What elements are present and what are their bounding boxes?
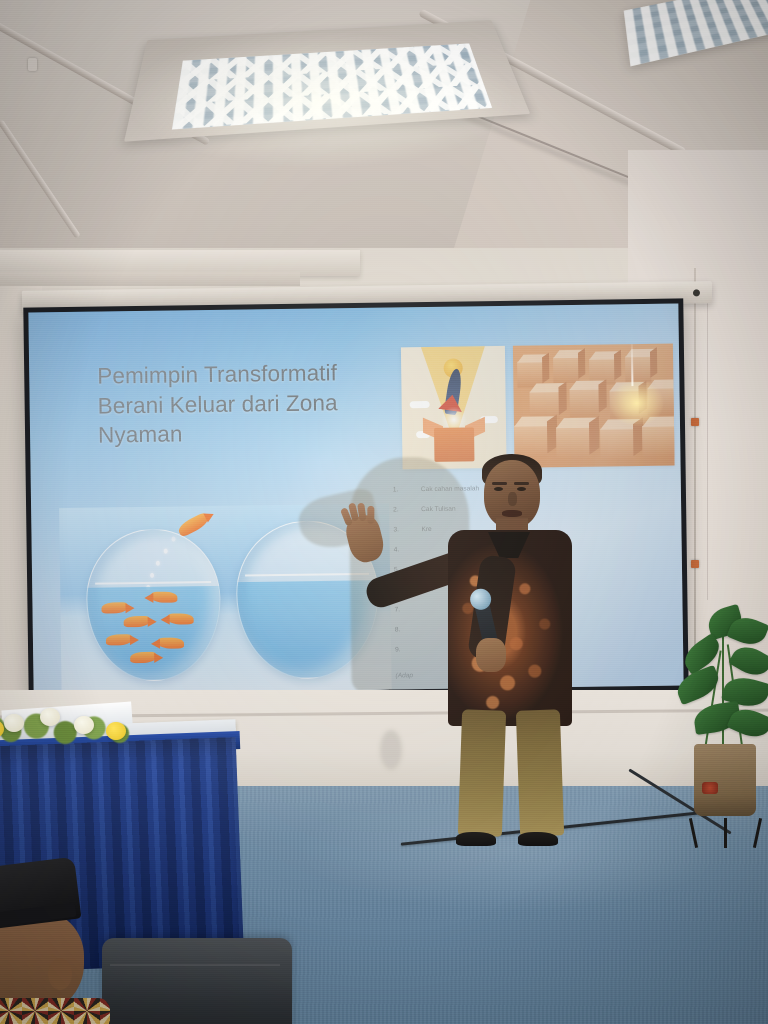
stand-leg — [724, 818, 727, 848]
housing-knob — [693, 289, 700, 296]
goldfish — [124, 616, 150, 627]
yellow-rose — [106, 722, 126, 740]
waterline — [95, 581, 211, 585]
eyebrow — [514, 482, 529, 485]
audience-member — [0, 862, 206, 1024]
finger — [357, 503, 366, 522]
box-cube — [600, 428, 634, 460]
louver-reflectors — [172, 44, 492, 129]
wall-seam — [707, 300, 708, 600]
presenter — [362, 452, 602, 842]
box-cube — [553, 357, 579, 383]
nose — [508, 492, 517, 506]
white-rose — [4, 714, 24, 732]
eye — [517, 487, 526, 491]
presenter-legs — [460, 710, 566, 842]
shoe — [456, 832, 496, 846]
goldfish — [130, 652, 156, 663]
slide-title: Pemimpin Transformatif Berani Keluar dar… — [97, 357, 398, 450]
box-cube — [625, 356, 651, 382]
chair-seam — [110, 964, 280, 966]
cloud-icon — [410, 401, 430, 408]
eye — [494, 487, 503, 491]
goldfish — [168, 613, 194, 624]
light-diffuser — [172, 44, 492, 129]
pipe-clip — [28, 58, 37, 71]
flower-arrangement — [0, 704, 142, 750]
shoe — [518, 832, 558, 846]
goldfish — [101, 602, 127, 613]
slide-title-line-3: Nyaman — [98, 417, 398, 451]
potted-plant — [668, 596, 768, 846]
stand-leg — [753, 818, 762, 848]
trouser-leg — [458, 709, 506, 836]
trouser-leg — [516, 709, 564, 836]
jumping-fish — [176, 512, 210, 538]
ceiling-beam-shadow — [0, 272, 300, 286]
goldfish — [106, 634, 132, 645]
box-cube — [642, 426, 675, 458]
plant-leaf — [728, 640, 768, 682]
mouth — [502, 510, 522, 517]
glow-highlight — [609, 380, 664, 427]
cable-clip — [691, 560, 699, 568]
white-rose — [40, 708, 60, 726]
box-cube — [569, 389, 599, 417]
eyebrow — [492, 482, 507, 485]
pot-indicator-light — [702, 782, 718, 794]
white-rose — [74, 716, 94, 734]
stand-leg — [689, 818, 698, 848]
seminar-photo-scene: Pemimpin Transformatif Berani Keluar dar… — [0, 0, 768, 1024]
audience-batik-shirt — [0, 998, 110, 1024]
goldfish — [158, 637, 184, 648]
audience-chair — [102, 938, 292, 1024]
audience-ear — [48, 958, 72, 990]
rocket-launching-from-box-image — [401, 346, 507, 469]
slide-title-line-1: Pemimpin Transformatif — [97, 357, 397, 391]
plant-leaf — [673, 665, 724, 706]
cable-clip — [691, 418, 699, 426]
glowing-box-among-boxes-image — [513, 344, 675, 468]
finger — [367, 506, 374, 524]
slide-title-line-2: Berani Keluar dari Zona — [97, 387, 397, 421]
plant-stand — [688, 818, 762, 848]
plant-pot — [694, 744, 756, 816]
presenter-left-hand — [476, 638, 506, 672]
goldfish — [151, 592, 177, 603]
